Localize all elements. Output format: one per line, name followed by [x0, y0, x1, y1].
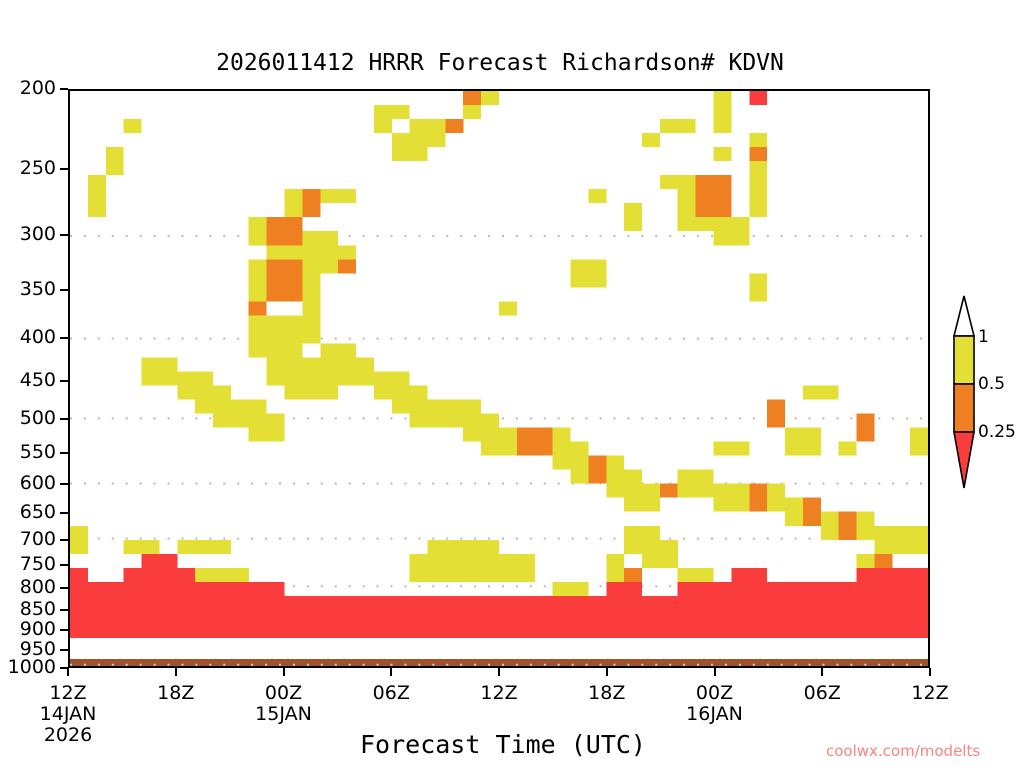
heatmap-cell — [714, 105, 732, 133]
x-tick-mark-18 — [390, 668, 392, 676]
heatmap-cell — [553, 582, 571, 596]
heatmap-cell — [231, 400, 249, 428]
heatmap-cell — [821, 512, 839, 540]
y-tick-mark-750 — [60, 564, 68, 566]
y-tick-label-850: 850 — [0, 598, 56, 620]
heatmap-cell — [481, 414, 499, 456]
heatmap-cell — [267, 245, 285, 259]
heatmap-cell — [749, 273, 767, 301]
heatmap-cell — [285, 259, 303, 301]
heatmap-cell — [177, 540, 195, 554]
heatmap-cell — [213, 540, 231, 554]
heatmap-cell — [678, 119, 696, 133]
heatmap-cell — [410, 119, 428, 133]
y-tick-mark-900 — [60, 629, 68, 631]
heatmap-cell — [106, 147, 124, 175]
surface-layer-column — [410, 596, 428, 638]
heatmap-cell — [553, 428, 571, 470]
heatmap-cell — [195, 371, 213, 413]
heatmap-cell — [785, 498, 803, 526]
heatmap-cell — [785, 428, 803, 456]
heatmap-cell — [499, 554, 517, 582]
heatmap-cell — [696, 175, 714, 217]
heatmap-cell — [285, 245, 303, 259]
y-tick-mark-250 — [60, 168, 68, 170]
heatmap-cell — [624, 526, 642, 554]
y-tick-label-450: 450 — [0, 369, 56, 391]
heatmap-cell — [124, 119, 142, 133]
surface-layer-column — [803, 582, 821, 638]
x-tick-label-6: 18Z — [136, 682, 216, 704]
page-title: 2026011412 HRRR Forecast Richardson# KDV… — [0, 50, 1000, 76]
x-tick-date-36: 16JAN — [675, 703, 755, 725]
x-tick-date-0: 14JAN — [28, 703, 108, 725]
surface-layer-column — [302, 596, 320, 638]
surface-layer-column — [588, 596, 606, 638]
surface-layer-column — [660, 596, 678, 638]
x-tick-mark-12 — [283, 668, 285, 676]
surface-layer-column — [320, 596, 338, 638]
surface-layer-column — [177, 568, 195, 638]
heatmap-cell — [767, 484, 785, 512]
heatmap-cell — [714, 484, 732, 512]
y-tick-mark-550 — [60, 452, 68, 454]
colorbar-segment-0.5-1 — [954, 336, 974, 384]
surface-layer-column — [749, 568, 767, 638]
heatmap-cell — [660, 175, 678, 189]
heatmap-cell — [499, 301, 517, 315]
heatmap-cell — [731, 484, 749, 512]
heatmap-cell — [749, 175, 767, 217]
heatmap-canvas — [70, 91, 928, 666]
x-tick-mark-42 — [821, 668, 823, 676]
surface-layer-column — [606, 582, 624, 638]
heatmap-cell — [481, 540, 499, 582]
y-tick-mark-800 — [60, 587, 68, 589]
heatmap-cell — [857, 512, 875, 540]
heatmap-cell — [302, 259, 320, 315]
heatmap-cell — [803, 498, 821, 526]
heatmap-cell — [267, 357, 285, 385]
heatmap-cell — [428, 400, 446, 428]
heatmap-cell — [803, 428, 821, 456]
heatmap-cell — [642, 133, 660, 147]
heatmap-cell — [463, 400, 481, 442]
heatmap-cell — [320, 189, 338, 203]
y-tick-label-750: 750 — [0, 553, 56, 575]
heatmap-cell — [678, 568, 696, 582]
heatmap-cell — [195, 568, 213, 582]
heatmap-cell — [731, 442, 749, 456]
heatmap-cell — [177, 371, 195, 399]
heatmap-cell — [839, 512, 857, 540]
surface-layer-column — [88, 582, 106, 638]
heatmap-cell — [320, 231, 338, 259]
heatmap-cell — [249, 259, 267, 301]
x-tick-mark-48 — [929, 668, 931, 676]
heatmap-cell — [445, 540, 463, 582]
y-tick-mark-950 — [60, 649, 68, 651]
surface-layer-column — [767, 582, 785, 638]
y-tick-mark-200 — [60, 88, 68, 90]
surface-layer-column — [463, 596, 481, 638]
surface-layer-column — [839, 582, 857, 638]
heatmap-cell — [535, 428, 553, 456]
heatmap-cell — [660, 484, 678, 498]
heatmap-cell — [892, 526, 910, 554]
surface-layer-column — [714, 582, 732, 638]
surface-layer-column — [356, 596, 374, 638]
heatmap-cell — [857, 414, 875, 442]
heatmap-cell — [642, 526, 660, 568]
heatmap-cell — [588, 259, 606, 287]
surface-layer-column — [892, 568, 910, 638]
watermark-link: coolwx.com/modelts — [826, 742, 980, 760]
heatmap-cell — [159, 357, 177, 385]
heatmap-cell — [410, 554, 428, 582]
colorbar[interactable]: 1 0.5 0.25 — [940, 292, 1024, 492]
heatmap-cell — [141, 540, 159, 554]
heatmap-cell — [839, 442, 857, 456]
surface-layer-column — [553, 596, 571, 638]
heatmap-cell — [696, 470, 714, 498]
surface-layer-column — [678, 582, 696, 638]
plot-area — [68, 89, 930, 668]
heatmap-cell — [463, 540, 481, 582]
x-tick-label-24: 12Z — [459, 682, 539, 704]
heatmap-cell — [588, 189, 606, 203]
heatmap-cell — [231, 568, 249, 582]
colorbar-segment-0.25-0.5 — [954, 384, 974, 432]
heatmap-cell — [749, 147, 767, 161]
y-tick-label-250: 250 — [0, 157, 56, 179]
surface-layer-column — [159, 554, 177, 638]
heatmap-cell — [731, 217, 749, 245]
x-tick-mark-24 — [498, 668, 500, 676]
heatmap-cell — [267, 259, 285, 301]
surface-layer-column — [374, 596, 392, 638]
x-tick-year-0: 2026 — [28, 724, 108, 746]
x-tick-label-0: 12Z — [28, 682, 108, 704]
surface-layer-column — [106, 582, 124, 638]
heatmap-cell — [624, 470, 642, 512]
heatmap-cell — [213, 386, 231, 428]
heatmap-cell — [249, 301, 267, 315]
heatmap-cell — [285, 217, 303, 245]
heatmap-cell — [320, 343, 338, 399]
colorbar-label-0.5: 0.5 — [978, 374, 1005, 394]
surface-layer-column — [535, 596, 553, 638]
heatmap-cell — [910, 428, 928, 456]
y-tick-label-800: 800 — [0, 576, 56, 598]
heatmap-cell — [714, 147, 732, 161]
y-tick-label-200: 200 — [0, 77, 56, 99]
heatmap-cell — [302, 231, 320, 259]
heatmap-cells — [70, 91, 928, 596]
heatmap-cell — [392, 133, 410, 161]
surface-layer-column — [249, 582, 267, 638]
heatmap-cell — [910, 526, 928, 554]
chart-root: 2026011412 HRRR Forecast Richardson# KDV… — [0, 0, 1024, 768]
y-tick-label-1000: 1000 — [0, 656, 56, 678]
surface-layer-column — [499, 596, 517, 638]
surface-layer-column — [785, 582, 803, 638]
y-tick-label-600: 600 — [0, 472, 56, 494]
heatmap-cell — [463, 91, 481, 105]
heatmap-cell — [302, 189, 320, 217]
heatmap-cell — [374, 105, 392, 133]
colorbar-segment-below-0.25 — [954, 432, 974, 488]
heatmap-cell — [696, 217, 714, 231]
heatmap-cell — [749, 484, 767, 512]
heatmap-cell — [338, 259, 356, 273]
x-axis-title: Forecast Time (UTC) — [360, 730, 646, 759]
heatmap-cell — [70, 526, 88, 554]
heatmap-cell — [624, 203, 642, 231]
surface-layer-column — [731, 568, 749, 638]
y-tick-mark-600 — [60, 483, 68, 485]
surface-layer-column — [124, 568, 142, 638]
heatmap-cell — [249, 217, 267, 245]
surface-layer-column — [874, 568, 892, 638]
surface-layer-column — [338, 596, 356, 638]
heatmap-cell — [714, 442, 732, 456]
y-tick-mark-400 — [60, 337, 68, 339]
heatmap-cell — [749, 91, 767, 105]
heatmap-cell — [88, 175, 106, 217]
y-tick-label-650: 650 — [0, 501, 56, 523]
heatmap-cell — [320, 259, 338, 273]
y-tick-mark-850 — [60, 609, 68, 611]
surface-layer-column — [517, 596, 535, 638]
heatmap-cell — [338, 343, 356, 385]
x-tick-label-30: 18Z — [567, 682, 647, 704]
surface-layer-column — [821, 582, 839, 638]
x-tick-label-36: 00Z — [675, 682, 755, 704]
heatmap-cell — [428, 133, 446, 147]
heatmap-cell — [338, 189, 356, 203]
heatmap-cell — [499, 428, 517, 456]
heatmap-cell — [660, 119, 678, 133]
x-tick-mark-0 — [67, 668, 69, 676]
heatmap-cell — [213, 568, 231, 582]
colorbar-label-1: 1 — [978, 327, 989, 347]
surface-layer-column — [231, 582, 249, 638]
terrain-band — [70, 659, 928, 666]
y-tick-label-400: 400 — [0, 326, 56, 348]
y-tick-mark-300 — [60, 234, 68, 236]
x-tick-mark-30 — [606, 668, 608, 676]
heatmap-cell — [195, 540, 213, 554]
surface-layer-column — [195, 582, 213, 638]
colorbar-segment-above-1 — [954, 296, 974, 336]
heatmap-cell — [588, 456, 606, 484]
heatmap-cell — [141, 357, 159, 385]
heatmap-cell — [285, 357, 303, 399]
heatmap-cell — [678, 175, 696, 203]
y-tick-mark-350 — [60, 289, 68, 291]
heatmap-cell — [285, 315, 303, 357]
heatmap-cell — [517, 428, 535, 456]
heatmap-cell — [285, 189, 303, 217]
surface-layer-column — [445, 596, 463, 638]
surface-layer-column — [428, 596, 446, 638]
x-tick-label-12: 00Z — [244, 682, 324, 704]
surface-layer-column — [570, 596, 588, 638]
surface-layer-column — [696, 582, 714, 638]
heatmap-cell — [356, 357, 374, 385]
surface-layer-column — [285, 596, 303, 638]
surface-layer-column — [267, 582, 285, 638]
heatmap-cell — [267, 217, 285, 245]
heatmap-cell — [821, 386, 839, 400]
heatmap-cell — [124, 540, 142, 554]
colorbar-label-0.25: 0.25 — [978, 422, 1016, 442]
heatmap-cell — [249, 400, 267, 442]
y-tick-mark-500 — [60, 418, 68, 420]
y-tick-label-500: 500 — [0, 407, 56, 429]
heatmap-cell — [302, 357, 320, 399]
heatmap-cell — [463, 105, 481, 119]
heatmap-cell — [696, 568, 714, 582]
heatmap-cell — [249, 315, 267, 357]
heatmap-cell — [570, 259, 588, 287]
heatmap-cell — [302, 315, 320, 343]
heatmap-cell — [874, 526, 892, 554]
heatmap-cell — [410, 386, 428, 428]
y-tick-label-300: 300 — [0, 223, 56, 245]
heatmap-cell — [445, 119, 463, 133]
heatmap-cell — [392, 105, 410, 119]
heatmap-cell — [642, 484, 660, 512]
x-tick-date-12: 15JAN — [244, 703, 324, 725]
heatmap-cell — [338, 245, 356, 259]
heatmap-cell — [267, 414, 285, 442]
heatmap-cell — [678, 470, 696, 498]
surface-layer-column — [910, 568, 928, 638]
heatmap-cell — [749, 133, 767, 147]
heatmap-cell — [606, 456, 624, 498]
heatmap-cell — [714, 175, 732, 217]
heatmap-cell — [570, 442, 588, 484]
y-tick-label-700: 700 — [0, 528, 56, 550]
surface-layer-column — [481, 596, 499, 638]
x-tick-label-48: 12Z — [890, 682, 970, 704]
heatmap-cell — [481, 91, 499, 105]
heatmap-cell — [517, 554, 535, 582]
heatmap-cell — [410, 133, 428, 161]
heatmap-cell — [570, 582, 588, 596]
surface-layer-column — [857, 568, 875, 638]
surface-layer-column — [642, 596, 660, 638]
x-tick-label-42: 06Z — [782, 682, 862, 704]
surface-layer-column — [392, 596, 410, 638]
y-tick-mark-450 — [60, 380, 68, 382]
heatmap-cell — [267, 315, 285, 357]
heatmap-cell — [749, 161, 767, 175]
x-tick-mark-6 — [175, 668, 177, 676]
heatmap-cell — [714, 217, 732, 245]
y-tick-label-350: 350 — [0, 278, 56, 300]
heatmap-cell — [714, 91, 732, 105]
surface-layer-column — [213, 582, 231, 638]
y-tick-mark-700 — [60, 539, 68, 541]
heatmap-cell — [606, 554, 624, 582]
heatmap-cell — [392, 371, 410, 413]
y-tick-label-550: 550 — [0, 441, 56, 463]
surface-layer-column — [141, 554, 159, 638]
heatmap-cell — [428, 540, 446, 582]
surface-layer-column — [624, 582, 642, 638]
heatmap-cell — [660, 540, 678, 568]
x-tick-mark-36 — [714, 668, 716, 676]
heatmap-cell — [767, 400, 785, 428]
heatmap-cell — [803, 386, 821, 400]
x-tick-label-18: 06Z — [351, 682, 431, 704]
y-tick-mark-650 — [60, 512, 68, 514]
heatmap-cell — [374, 371, 392, 399]
heatmap-cell — [678, 203, 696, 231]
surface-layer-column — [70, 568, 88, 638]
heatmap-cell — [445, 400, 463, 428]
heatmap-cell — [428, 119, 446, 133]
